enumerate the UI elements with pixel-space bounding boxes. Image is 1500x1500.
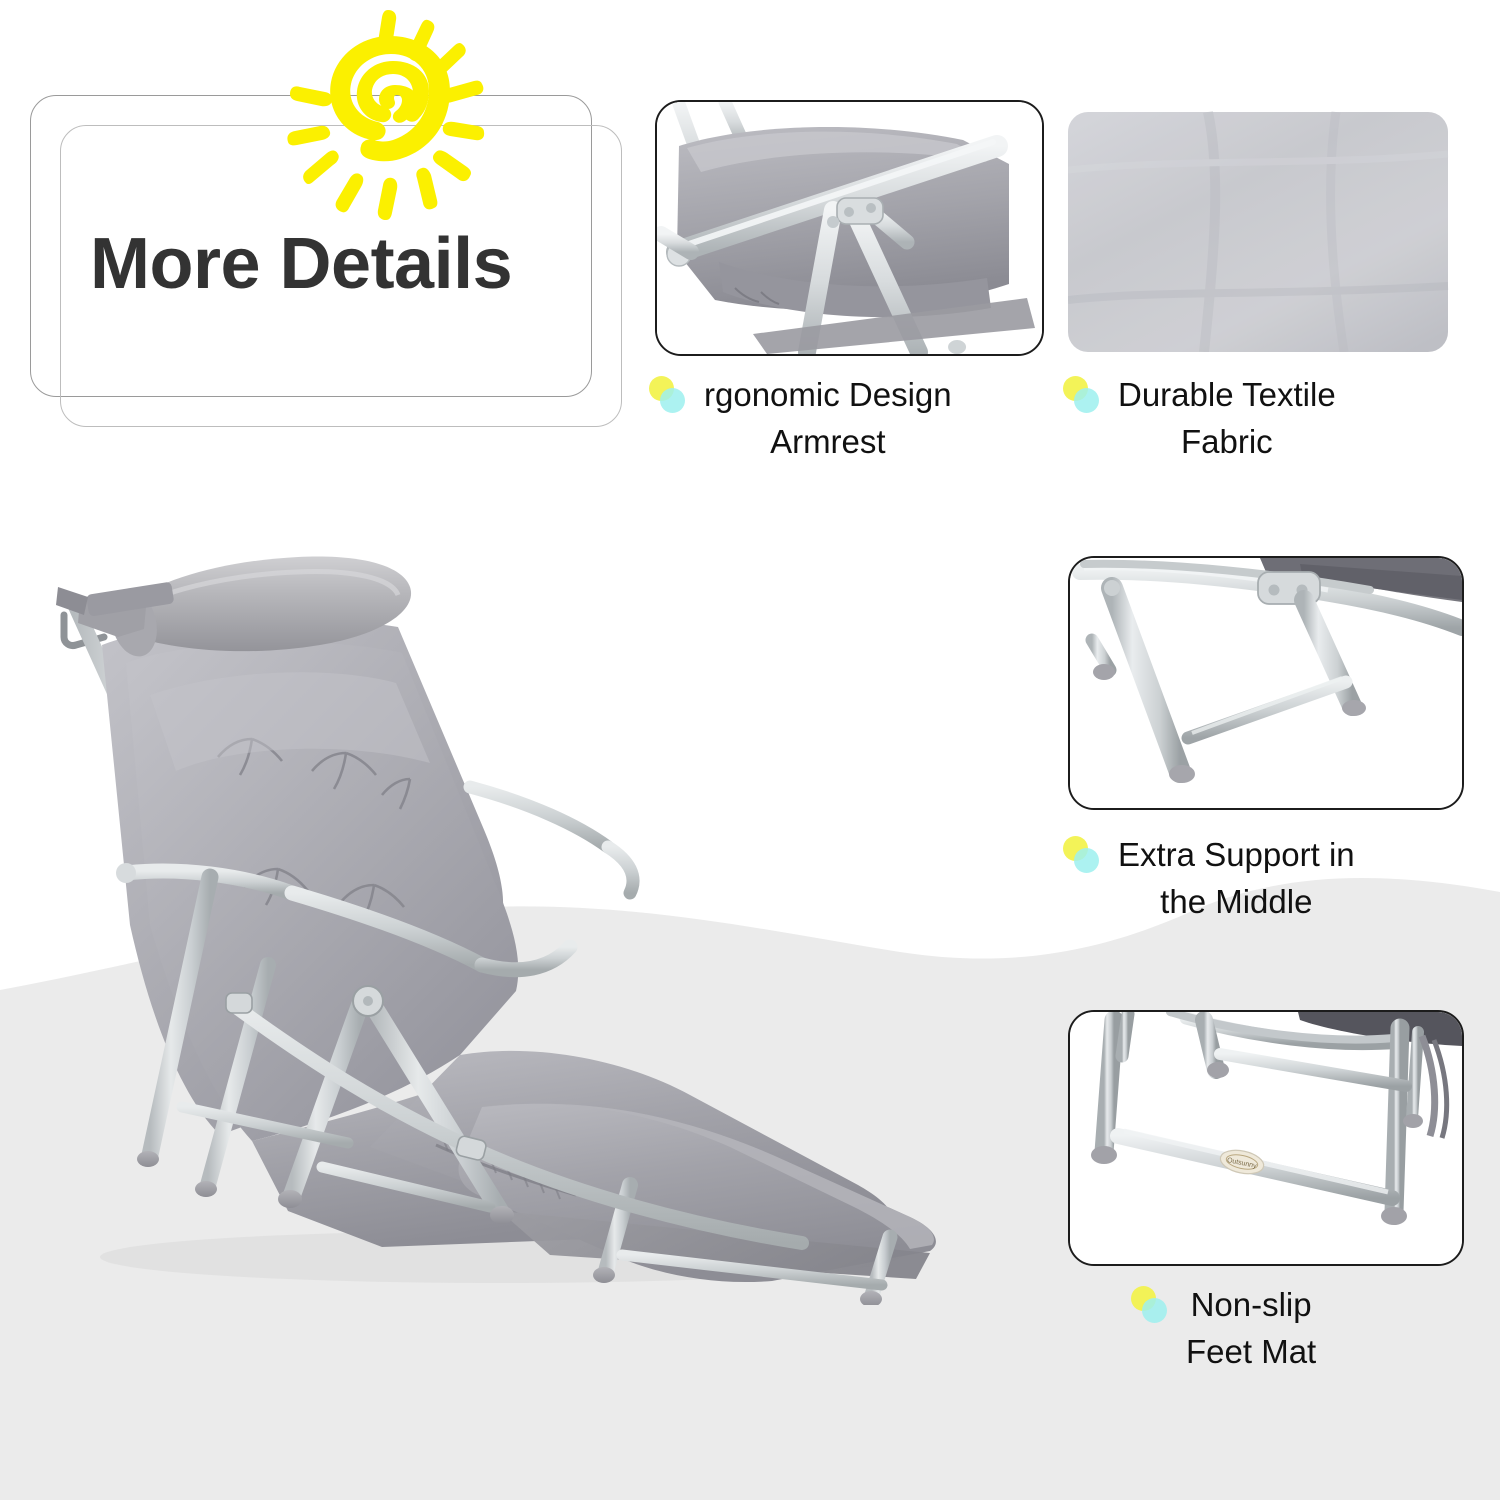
caption-line-2: Feet Mat <box>1186 1329 1316 1376</box>
detail-photo-armrest <box>655 100 1044 356</box>
bullet-dot-icon <box>1062 376 1102 416</box>
infographic-canvas: More Details <box>0 0 1500 1500</box>
bullet-dot-icon <box>1130 1286 1170 1326</box>
caption-line-2: Fabric <box>1118 419 1336 466</box>
caption-armrest-text: rgonomic Design Armrest <box>704 372 952 466</box>
caption-line-1: rgonomic Design <box>704 376 952 413</box>
caption-line-1: Durable Textile <box>1118 376 1336 413</box>
hero-product-image <box>30 495 1060 1305</box>
caption-middle-support: Extra Support in the Middle <box>1062 832 1432 926</box>
caption-fabric-text: Durable Textile Fabric <box>1118 372 1336 466</box>
bullet-dot-icon <box>648 376 688 416</box>
bullet-dot-icon <box>1062 836 1102 876</box>
caption-armrest: rgonomic Design Armrest <box>648 372 1018 466</box>
caption-feet-mat: Non-slip Feet Mat <box>1130 1282 1470 1376</box>
caption-feet-mat-text: Non-slip Feet Mat <box>1186 1282 1316 1376</box>
detail-photo-feet-mat: Outsunny <box>1068 1010 1464 1266</box>
detail-photo-fabric <box>1068 100 1460 352</box>
caption-middle-support-text: Extra Support in the Middle <box>1118 832 1355 926</box>
caption-line-1: Non-slip <box>1191 1286 1312 1323</box>
caption-line-2: the Middle <box>1118 879 1355 926</box>
caption-fabric: Durable Textile Fabric <box>1062 372 1432 466</box>
caption-line-1: Extra Support in <box>1118 836 1355 873</box>
caption-line-2: Armrest <box>704 419 952 466</box>
sun-icon <box>276 8 506 238</box>
detail-photo-middle-support <box>1068 556 1464 810</box>
